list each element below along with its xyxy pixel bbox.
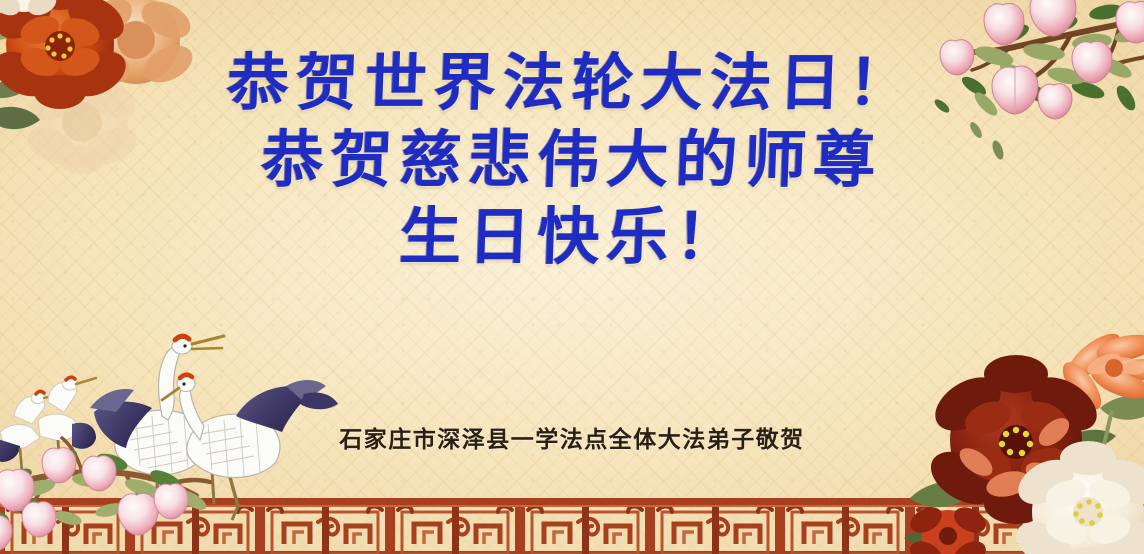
greeting-card: 恭贺世界法轮大法日！ 恭贺慈悲伟大的师尊 生日快乐！ 石家庄市深泽县一学法点全体… — [0, 0, 1144, 554]
background-vignette — [0, 0, 1144, 554]
